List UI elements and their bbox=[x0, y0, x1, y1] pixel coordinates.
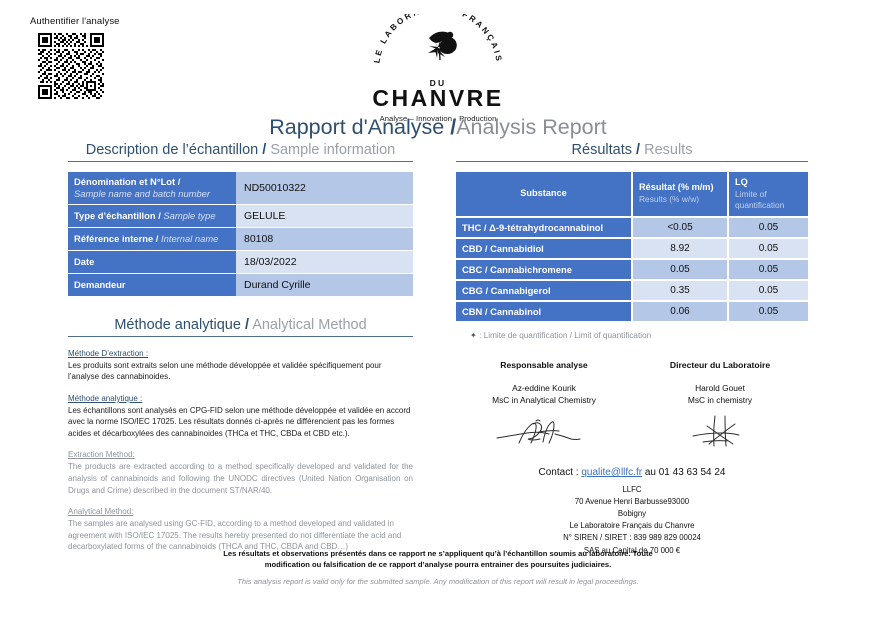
table-row: Type d’échantillon / Sample type GELULE bbox=[68, 204, 413, 227]
method-block-title: Extraction Method: bbox=[68, 450, 413, 459]
sample-row-key: Date bbox=[68, 250, 236, 273]
column-header-result-en: Results (% w/w) bbox=[639, 194, 721, 205]
table-row: CBG / Cannabigerol 0.35 0.05 bbox=[456, 280, 808, 301]
method-block-title: Méthode analytique : bbox=[68, 394, 413, 403]
column-header-result: Résultat (% m/m) Results (% w/w) bbox=[632, 172, 728, 217]
result-lq: 0.05 bbox=[728, 259, 808, 280]
table-row: Dénomination et N°Lot / Sample name and … bbox=[68, 172, 413, 204]
column-header-lq: LQ Limite of quantification bbox=[728, 172, 808, 217]
table-row: Demandeur Durand Cyrille bbox=[68, 273, 413, 296]
table-row: Date 18/03/2022 bbox=[68, 250, 413, 273]
method-heading-en: Analytical Method bbox=[249, 317, 367, 333]
results-heading-en: Results bbox=[640, 142, 692, 158]
table-row: THC / Δ-9-tétrahydrocannabinol <0.05 0.0… bbox=[456, 217, 808, 238]
method-heading-fr: Méthode analytique bbox=[114, 317, 245, 333]
address-line: LLFC bbox=[456, 484, 808, 496]
hemp-leaf-emblem-icon: LE LABORATOIRE FRANÇAIS bbox=[363, 14, 513, 78]
analytical-method-section: Méthode analytique / Analytical Method M… bbox=[68, 317, 413, 554]
method-block-body: Les produits sont extraits selon une mét… bbox=[68, 360, 413, 383]
result-lq: 0.05 bbox=[728, 301, 808, 322]
logo-wordmark: CHANVRE bbox=[372, 87, 503, 110]
contact-line: Contact : qualite@llfc.fr au 01 43 63 54… bbox=[456, 467, 808, 478]
signature-person-name: Az-eddine Kourik bbox=[456, 382, 632, 394]
table-row: Référence interne / Internal name 80108 bbox=[68, 227, 413, 250]
contact-email-link[interactable]: qualite@llfc.fr bbox=[581, 467, 642, 478]
column-header-result-fr: Résultat (% m/m) bbox=[639, 182, 714, 192]
legal-notice-en: This analysis report is valid only for t… bbox=[218, 576, 658, 587]
sample-row-key-fr: Date bbox=[74, 256, 94, 267]
method-blocks: Méthode D’extraction : Les produits sont… bbox=[68, 349, 413, 554]
method-block-body: Les échantillons sont analysés en CPG-FI… bbox=[68, 405, 413, 440]
sample-row-key: Type d’échantillon / Sample type bbox=[68, 204, 236, 227]
sample-row-key-en: Internal name bbox=[161, 233, 218, 244]
signature-name: Az-eddine Kourik MsC in Analytical Chemi… bbox=[456, 382, 632, 406]
result-value: <0.05 bbox=[632, 217, 728, 238]
sample-information-heading: Description de l’échantillon / Sample in… bbox=[68, 142, 413, 162]
sample-heading-en: Sample information bbox=[266, 142, 395, 158]
result-substance: CBG / Cannabigerol bbox=[456, 280, 632, 301]
results-heading: Résultats / Results bbox=[456, 142, 808, 162]
sample-row-key-fr: Type d’échantillon / bbox=[74, 210, 163, 221]
sample-row-value: 80108 bbox=[236, 227, 413, 250]
page-title: Rapport d'Analyse /Analysis Report bbox=[0, 116, 876, 140]
company-address: LLFC 70 Avenue Henri Barbusse93000 Bobig… bbox=[456, 484, 808, 556]
right-column: Résultats / Results Substance Résultat (… bbox=[456, 142, 808, 557]
page-title-fr: Rapport d'Analyse bbox=[269, 115, 450, 139]
address-line: 70 Avenue Henri Barbusse93000 bbox=[456, 496, 808, 508]
table-row: CBC / Cannabichromene 0.05 0.05 bbox=[456, 259, 808, 280]
lq-footnote-star: ✦ bbox=[470, 331, 477, 340]
contact-prefix: Contact : bbox=[539, 467, 582, 478]
sample-row-key-fr: Référence interne / bbox=[74, 233, 161, 244]
sample-row-value: Durand Cyrille bbox=[236, 273, 413, 296]
column-header-lq-en: Limite of quantification bbox=[735, 189, 802, 211]
sample-row-key: Dénomination et N°Lot / Sample name and … bbox=[68, 172, 236, 204]
sample-row-value: 18/03/2022 bbox=[236, 250, 413, 273]
address-line: N° SIREN / SIRET : 839 989 829 00024 bbox=[456, 532, 808, 544]
result-substance: THC / Δ-9-tétrahydrocannabinol bbox=[456, 217, 632, 238]
lq-footnote: ✦ : Limite de quantification / Limit of … bbox=[470, 330, 808, 340]
contact-phone: au 01 43 63 54 24 bbox=[642, 467, 725, 478]
sample-row-key: Référence interne / Internal name bbox=[68, 227, 236, 250]
address-line: Le Laboratoire Français du Chanvre bbox=[456, 520, 808, 532]
sample-row-key: Demandeur bbox=[68, 273, 236, 296]
result-lq: 0.05 bbox=[728, 280, 808, 301]
left-column: Description de l’échantillon / Sample in… bbox=[68, 142, 413, 564]
signatures-row: Responsable analyse Az-eddine Kourik MsC… bbox=[456, 360, 808, 457]
method-block-title: Analytical Method: bbox=[68, 507, 413, 516]
result-value: 8.92 bbox=[632, 238, 728, 259]
legal-notice-fr: Les résultats et observations présentés … bbox=[218, 548, 658, 571]
signature-name: Harold Gouet MsC in chemistry bbox=[632, 382, 808, 406]
sample-row-key-fr: Dénomination et N°Lot / bbox=[74, 176, 230, 188]
handwritten-signature-icon bbox=[665, 412, 775, 452]
signature-qualification: MsC in chemistry bbox=[632, 394, 808, 406]
sample-row-value: GELULE bbox=[236, 204, 413, 227]
column-header-substance: Substance bbox=[456, 172, 632, 217]
method-block-body: The products are extracted according to … bbox=[68, 461, 413, 496]
sample-row-value: ND50010322 bbox=[236, 172, 413, 204]
lq-footnote-text: : Limite de quantification / Limit of qu… bbox=[477, 331, 651, 340]
page-title-en: Analysis Report bbox=[456, 115, 607, 139]
legal-footer: Les résultats et observations présentés … bbox=[218, 548, 658, 587]
analytical-method-heading: Méthode analytique / Analytical Method bbox=[68, 317, 413, 337]
result-substance: CBD / Cannabidiol bbox=[456, 238, 632, 259]
table-row: CBN / Cannabinol 0.06 0.05 bbox=[456, 301, 808, 322]
column-header-lq-fr: LQ bbox=[735, 177, 748, 187]
sample-row-key-en: Sample name and batch number bbox=[74, 188, 230, 200]
result-substance: CBC / Cannabichromene bbox=[456, 259, 632, 280]
result-substance: CBN / Cannabinol bbox=[456, 301, 632, 322]
result-lq: 0.05 bbox=[728, 217, 808, 238]
signature-qualification: MsC in Analytical Chemistry bbox=[456, 394, 632, 406]
signature-block-analyst: Responsable analyse Az-eddine Kourik MsC… bbox=[456, 360, 632, 457]
sample-row-key-fr: Demandeur bbox=[74, 279, 126, 290]
signature-block-director: Directeur du Laboratoire Harold Gouet Ms… bbox=[632, 360, 808, 457]
sample-row-key-en: Sample type bbox=[163, 210, 215, 221]
signature-person-name: Harold Gouet bbox=[632, 382, 808, 394]
result-lq: 0.05 bbox=[728, 238, 808, 259]
results-table: Substance Résultat (% m/m) Results (% w/… bbox=[456, 172, 808, 323]
table-row: CBD / Cannabidiol 8.92 0.05 bbox=[456, 238, 808, 259]
signature-role: Directeur du Laboratoire bbox=[632, 360, 808, 370]
contact-block: Contact : qualite@llfc.fr au 01 43 63 54… bbox=[456, 467, 808, 556]
company-logo: LE LABORATOIRE FRANÇAIS DU CHANVRE Analy… bbox=[0, 14, 876, 123]
results-heading-fr: Résultats bbox=[572, 142, 636, 158]
address-line: Bobigny bbox=[456, 508, 808, 520]
handwritten-signature-icon bbox=[489, 412, 599, 452]
result-value: 0.35 bbox=[632, 280, 728, 301]
signature-role: Responsable analyse bbox=[456, 360, 632, 370]
sample-heading-fr: Description de l’échantillon bbox=[86, 142, 263, 158]
result-value: 0.06 bbox=[632, 301, 728, 322]
method-block-title: Méthode D’extraction : bbox=[68, 349, 413, 358]
results-table-header-row: Substance Résultat (% m/m) Results (% w/… bbox=[456, 172, 808, 217]
sample-information-table: Dénomination et N°Lot / Sample name and … bbox=[68, 172, 413, 297]
result-value: 0.05 bbox=[632, 259, 728, 280]
